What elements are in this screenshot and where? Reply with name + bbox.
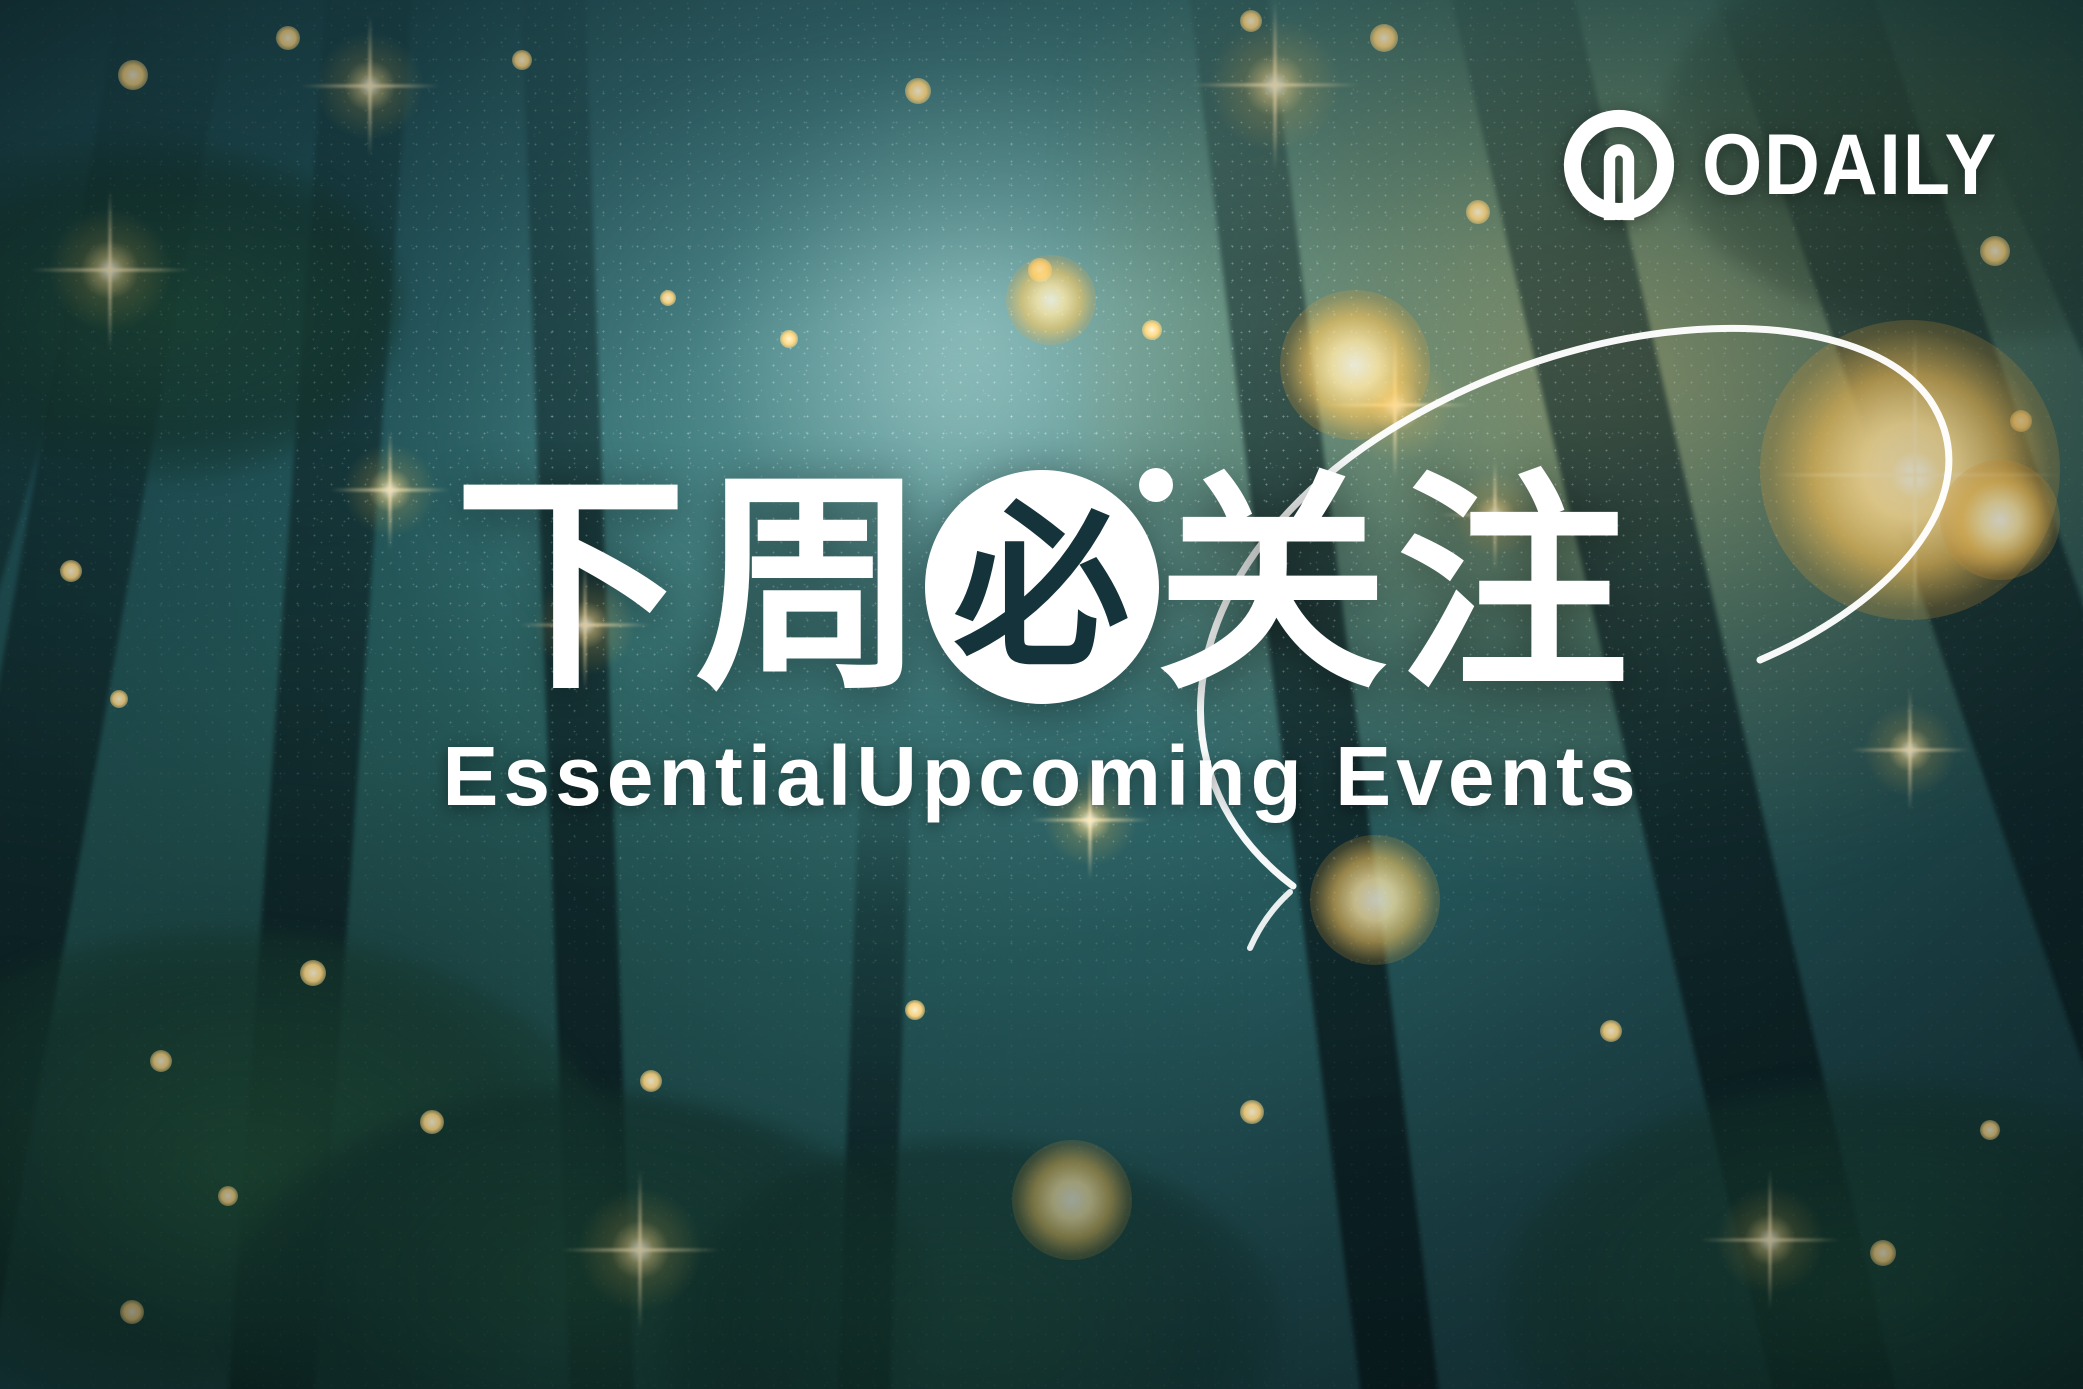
title-block: 下 周 必 关 注 EssentialUpcoming Events	[0, 470, 2083, 818]
title-char-guan: 关	[1153, 471, 1393, 703]
english-subtitle: EssentialUpcoming Events	[442, 734, 1640, 818]
odaily-circle-mark	[1562, 108, 1676, 222]
odaily-logo[interactable]: ODAILY	[1562, 108, 2031, 222]
chinese-title: 下 周 必 关 注	[450, 470, 1632, 704]
title-char-xia: 下	[450, 471, 690, 703]
banner-canvas: ODAILY 下 周 必 关 注 EssentialUpcoming Event…	[0, 0, 2083, 1389]
odaily-wordmark: ODAILY	[1702, 122, 1998, 208]
title-char-zhou: 周	[690, 471, 930, 703]
title-char-bi: 必	[953, 501, 1129, 677]
badge-accent-dot	[1139, 468, 1173, 502]
title-char-zhu: 注	[1393, 471, 1633, 703]
title-char-bi-badge: 必	[925, 470, 1159, 704]
